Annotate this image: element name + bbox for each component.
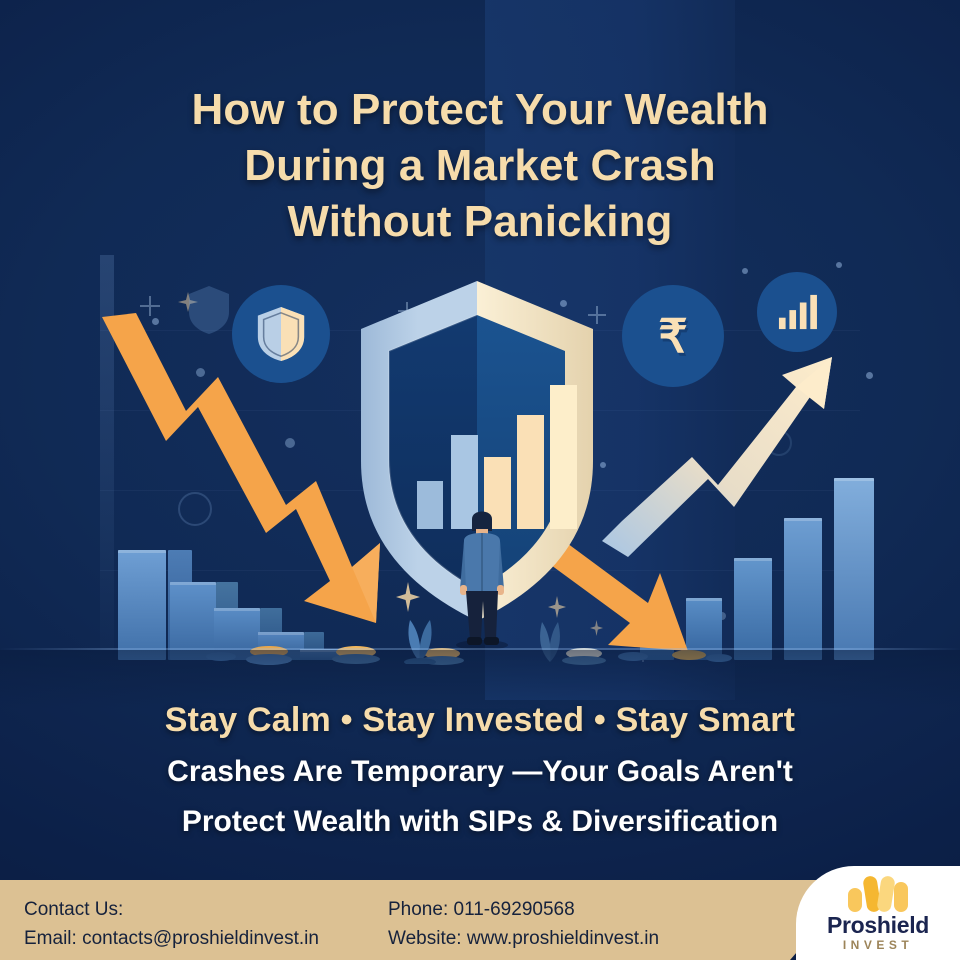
rupee-symbol: ₹ (658, 313, 687, 359)
poster-canvas: How to Protect Your Wealth During a Mark… (0, 0, 960, 960)
proshield-logo-mark (848, 872, 910, 912)
bar-chart-icon (775, 293, 819, 331)
rupee-icon: ₹ (622, 285, 724, 387)
investor-figure (452, 505, 512, 650)
ground-shadow (0, 650, 960, 708)
headline-line-2: During a Market Crash (0, 138, 960, 194)
contact-email[interactable]: Email: contacts@proshieldinvest.in (24, 924, 319, 953)
illustration: ₹ (0, 250, 960, 660)
contact-label: Contact Us: (24, 895, 319, 924)
shield-icon (254, 304, 308, 364)
headline-line-1: How to Protect Your Wealth (0, 82, 960, 138)
right-bar-3 (734, 558, 772, 660)
page-title: How to Protect Your Wealth During a Mark… (0, 82, 960, 250)
shield-badge-icon (232, 285, 330, 383)
contact-left-column: Contact Us: Email: contacts@proshieldinv… (24, 895, 319, 953)
contact-website[interactable]: Website: www.proshieldinvest.in (388, 924, 659, 953)
headline-line-3: Without Panicking (0, 194, 960, 250)
logo-subtitle: INVEST (796, 938, 960, 952)
tagline: Stay Calm • Stay Invested • Stay Smart (0, 701, 960, 740)
contact-right-column: Phone: 011-69290568 Website: www.proshie… (388, 895, 659, 953)
chart-badge-icon (757, 272, 837, 352)
logo-name: Proshield (796, 912, 960, 939)
subline-1: Crashes Are Temporary —Your Goals Aren't (0, 755, 960, 789)
logo-panel: Proshield INVEST (796, 866, 960, 960)
contact-phone[interactable]: Phone: 011-69290568 (388, 895, 659, 924)
subline-2: Protect Wealth with SIPs & Diversificati… (0, 805, 960, 839)
